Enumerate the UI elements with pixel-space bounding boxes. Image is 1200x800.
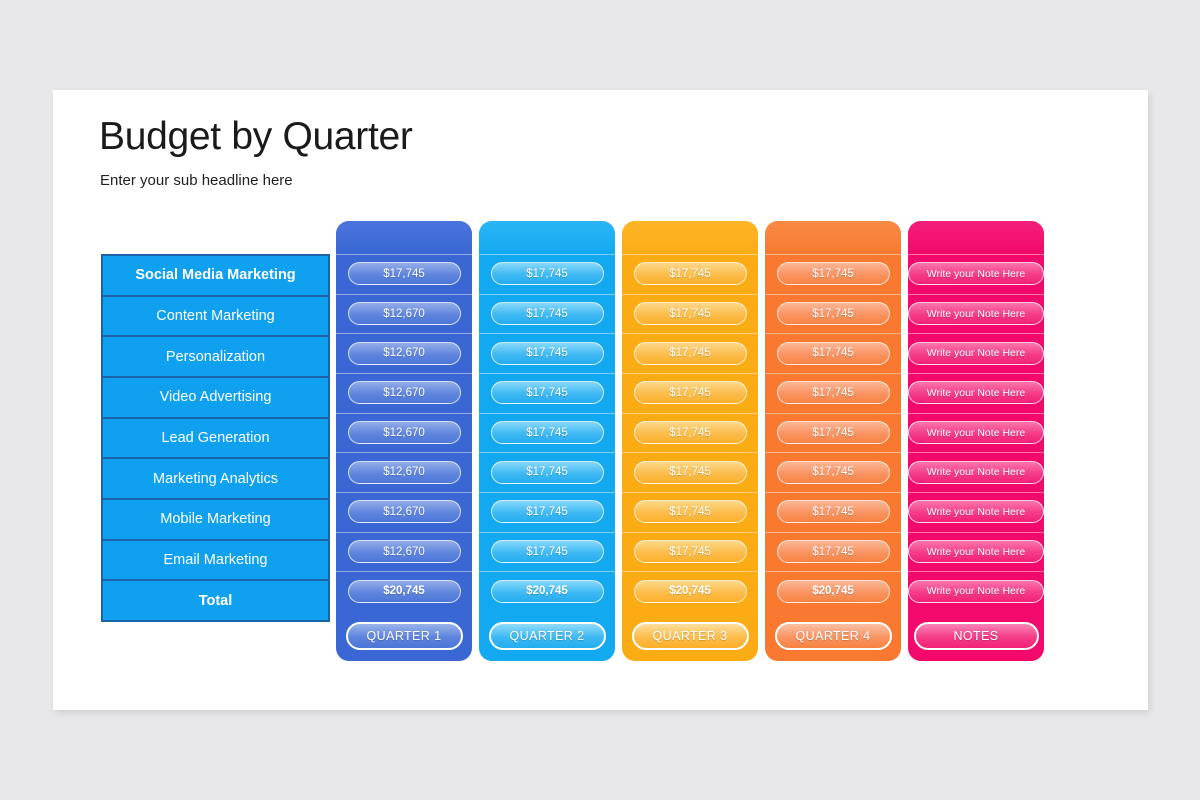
column-footer-button-q3[interactable]: QUARTER 3 — [632, 622, 749, 650]
value-cell: $20,745 — [336, 571, 472, 611]
budget-column-q2[interactable]: $17,745$17,745$17,745$17,745$17,745$17,7… — [479, 221, 615, 661]
page-title: Budget by Quarter — [99, 115, 413, 159]
value-cell: $12,670 — [336, 373, 472, 413]
row-label-column: Social Media MarketingContent MarketingP… — [101, 254, 330, 622]
value-cell: $17,745 — [765, 254, 901, 294]
value-cell: Write your Note Here — [908, 333, 1044, 373]
value-pill[interactable]: $17,745 — [634, 381, 747, 404]
value-cell: $17,745 — [479, 532, 615, 572]
value-pill[interactable]: $17,745 — [491, 342, 604, 365]
note-pill[interactable]: Write your Note Here — [908, 302, 1044, 325]
value-pill[interactable]: $17,745 — [777, 342, 890, 365]
value-cell: $17,745 — [479, 294, 615, 334]
value-pill[interactable]: $17,745 — [634, 500, 747, 523]
value-pill[interactable]: $17,745 — [491, 540, 604, 563]
value-pill[interactable]: $17,745 — [777, 461, 890, 484]
note-pill[interactable]: Write your Note Here — [908, 421, 1044, 444]
column-body-q2: $17,745$17,745$17,745$17,745$17,745$17,7… — [479, 254, 615, 611]
column-body-q3: $17,745$17,745$17,745$17,745$17,745$17,7… — [622, 254, 758, 611]
value-pill[interactable]: $17,745 — [491, 421, 604, 444]
column-header-q2 — [479, 221, 615, 254]
value-cell: $17,745 — [765, 492, 901, 532]
column-header-q3 — [622, 221, 758, 254]
value-pill[interactable]: $17,745 — [777, 302, 890, 325]
value-pill[interactable]: $17,745 — [348, 262, 461, 285]
page-subtitle: Enter your sub headline here — [100, 172, 293, 189]
value-cell: $12,670 — [336, 413, 472, 453]
value-cell: $17,745 — [765, 294, 901, 334]
value-cell: $17,745 — [336, 254, 472, 294]
value-cell: $12,670 — [336, 294, 472, 334]
value-cell: $17,745 — [622, 532, 758, 572]
row-label-cell: Video Advertising — [103, 378, 328, 419]
value-cell: $17,745 — [479, 452, 615, 492]
note-pill[interactable]: Write your Note Here — [908, 540, 1044, 563]
budget-column-q1[interactable]: $17,745$12,670$12,670$12,670$12,670$12,6… — [336, 221, 472, 661]
row-label-cell: Lead Generation — [103, 419, 328, 460]
value-cell: $20,745 — [479, 571, 615, 611]
budget-column-q4[interactable]: $17,745$17,745$17,745$17,745$17,745$17,7… — [765, 221, 901, 661]
value-cell: $17,745 — [765, 333, 901, 373]
value-pill[interactable]: $17,745 — [491, 381, 604, 404]
note-pill[interactable]: Write your Note Here — [908, 500, 1044, 523]
value-cell: $17,745 — [622, 294, 758, 334]
value-cell: $17,745 — [622, 492, 758, 532]
value-pill[interactable]: $17,745 — [634, 461, 747, 484]
column-footer-q3: QUARTER 3 — [622, 611, 758, 661]
value-pill[interactable]: $12,670 — [348, 421, 461, 444]
value-cell: $12,670 — [336, 333, 472, 373]
value-cell: $17,745 — [622, 373, 758, 413]
total-pill[interactable]: $20,745 — [634, 580, 747, 603]
value-pill[interactable]: $17,745 — [777, 421, 890, 444]
note-pill[interactable]: Write your Note Here — [908, 461, 1044, 484]
value-pill[interactable]: $17,745 — [634, 262, 747, 285]
budget-column-q3[interactable]: $17,745$17,745$17,745$17,745$17,745$17,7… — [622, 221, 758, 661]
value-pill[interactable]: $17,745 — [777, 500, 890, 523]
value-cell: Write your Note Here — [908, 492, 1044, 532]
note-pill[interactable]: Write your Note Here — [908, 381, 1044, 404]
value-pill[interactable]: $17,745 — [634, 540, 747, 563]
value-pill[interactable]: $17,745 — [777, 381, 890, 404]
column-body-q4: $17,745$17,745$17,745$17,745$17,745$17,7… — [765, 254, 901, 611]
value-cell: $17,745 — [765, 373, 901, 413]
column-footer-q4: QUARTER 4 — [765, 611, 901, 661]
row-label-cell: Email Marketing — [103, 541, 328, 582]
value-cell: Write your Note Here — [908, 532, 1044, 572]
value-cell: $17,745 — [479, 373, 615, 413]
value-cell: $12,670 — [336, 452, 472, 492]
value-cell: $12,670 — [336, 492, 472, 532]
column-footer-q2: QUARTER 2 — [479, 611, 615, 661]
total-pill[interactable]: $20,745 — [777, 580, 890, 603]
row-label-cell: Total — [103, 581, 328, 620]
column-footer-button-q4[interactable]: QUARTER 4 — [775, 622, 892, 650]
value-pill[interactable]: $17,745 — [777, 540, 890, 563]
row-label-cell: Mobile Marketing — [103, 500, 328, 541]
value-cell: $17,745 — [479, 413, 615, 453]
value-cell: $17,745 — [479, 333, 615, 373]
column-footer-button-q1[interactable]: QUARTER 1 — [346, 622, 463, 650]
value-pill[interactable]: $12,670 — [348, 540, 461, 563]
value-cell: $17,745 — [622, 452, 758, 492]
value-cell: Write your Note Here — [908, 373, 1044, 413]
total-pill[interactable]: $20,745 — [348, 580, 461, 603]
row-label-cell: Content Marketing — [103, 297, 328, 338]
column-body-notes: Write your Note HereWrite your Note Here… — [908, 254, 1044, 611]
value-pill[interactable]: $12,670 — [348, 381, 461, 404]
note-pill[interactable]: Write your Note Here — [908, 342, 1044, 365]
value-cell: $20,745 — [622, 571, 758, 611]
column-body-q1: $17,745$12,670$12,670$12,670$12,670$12,6… — [336, 254, 472, 611]
value-cell: Write your Note Here — [908, 452, 1044, 492]
value-pill[interactable]: $17,745 — [491, 500, 604, 523]
value-cell: $17,745 — [479, 492, 615, 532]
row-label-cell: Personalization — [103, 337, 328, 378]
column-header-q4 — [765, 221, 901, 254]
column-footer-button-q2[interactable]: QUARTER 2 — [489, 622, 606, 650]
column-footer-notes: NOTES — [908, 611, 1044, 661]
value-pill[interactable]: $12,670 — [348, 302, 461, 325]
value-pill[interactable]: $17,745 — [634, 302, 747, 325]
value-pill[interactable]: $17,745 — [777, 262, 890, 285]
column-footer-q1: QUARTER 1 — [336, 611, 472, 661]
value-cell: $20,745 — [765, 571, 901, 611]
column-header-q1 — [336, 221, 472, 254]
value-cell: $17,745 — [479, 254, 615, 294]
note-pill[interactable]: Write your Note Here — [908, 580, 1044, 603]
value-pill[interactable]: $17,745 — [491, 262, 604, 285]
value-pill[interactable]: $12,670 — [348, 500, 461, 523]
value-cell: $17,745 — [622, 333, 758, 373]
total-pill[interactable]: $20,745 — [491, 580, 604, 603]
value-cell: $17,745 — [765, 532, 901, 572]
value-cell: $17,745 — [765, 413, 901, 453]
value-pill[interactable]: $17,745 — [491, 461, 604, 484]
value-pill[interactable]: $12,670 — [348, 461, 461, 484]
value-cell: Write your Note Here — [908, 254, 1044, 294]
value-pill[interactable]: $12,670 — [348, 342, 461, 365]
value-cell: $12,670 — [336, 532, 472, 572]
value-cell: $17,745 — [622, 254, 758, 294]
column-header-notes — [908, 221, 1044, 254]
slide-canvas: Budget by Quarter Enter your sub headlin… — [53, 90, 1148, 710]
value-cell: Write your Note Here — [908, 571, 1044, 611]
value-cell: Write your Note Here — [908, 413, 1044, 453]
value-pill[interactable]: $17,745 — [634, 421, 747, 444]
value-pill[interactable]: $17,745 — [634, 342, 747, 365]
notes-column[interactable]: Write your Note HereWrite your Note Here… — [908, 221, 1044, 661]
note-pill[interactable]: Write your Note Here — [908, 262, 1044, 285]
value-cell: Write your Note Here — [908, 294, 1044, 334]
row-label-cell: Marketing Analytics — [103, 459, 328, 500]
value-cell: $17,745 — [765, 452, 901, 492]
column-footer-button-notes[interactable]: NOTES — [914, 622, 1039, 650]
row-label-cell: Social Media Marketing — [103, 256, 328, 297]
value-pill[interactable]: $17,745 — [491, 302, 604, 325]
value-cell: $17,745 — [622, 413, 758, 453]
